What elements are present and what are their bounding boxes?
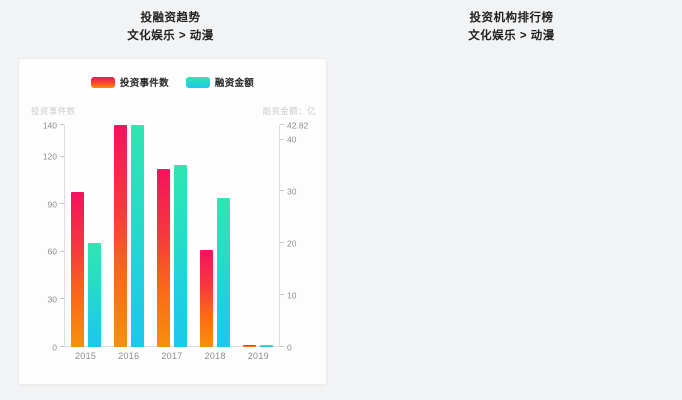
y-axis-caption-right: 融资金额：亿 <box>263 105 316 117</box>
bar-amount[interactable] <box>88 243 101 347</box>
left-panel-title: 投融资趋势 <box>0 10 341 27</box>
bar-group <box>157 125 187 347</box>
bar-amount[interactable] <box>217 198 230 347</box>
bar-group <box>71 125 101 347</box>
axis-tick <box>280 294 284 295</box>
axis-tick-label: 30 <box>287 187 296 196</box>
bar-group <box>200 125 230 347</box>
axis-tick-label: 120 <box>43 152 57 161</box>
x-axis-label: 2017 <box>161 351 182 361</box>
x-axis-label: 2016 <box>118 351 139 361</box>
bar-events[interactable] <box>71 192 84 347</box>
x-axis-label: 2018 <box>205 351 226 361</box>
bar-events[interactable] <box>157 169 170 347</box>
bar-group <box>114 125 144 347</box>
legend-label-events: 投资事件数 <box>120 75 169 89</box>
x-axis-label: 2015 <box>75 351 96 361</box>
axis-tick <box>280 346 284 347</box>
x-axis-label: 2019 <box>248 351 269 361</box>
investment-trend-panel: 投融资趋势 文化娱乐 > 动漫 投资事件数 融资金额 投资事件数 融资金额：亿 <box>0 0 341 400</box>
bar-events[interactable] <box>114 125 127 347</box>
left-panel-breadcrumb: 文化娱乐 > 动漫 <box>0 27 341 45</box>
axis-tick-label: 20 <box>287 239 296 248</box>
axis-tick-label: 90 <box>48 200 57 209</box>
axis-tick <box>280 190 284 191</box>
bar-amount[interactable] <box>260 345 273 347</box>
right-panel-titles: 投资机构排行榜 文化娱乐 > 动漫 <box>341 0 682 45</box>
axis-tick-label: 60 <box>48 248 57 257</box>
axis-tick <box>280 139 284 140</box>
axis-tick-label: 10 <box>287 291 296 300</box>
axis-tick-label: 42.82 <box>287 121 308 130</box>
axis-tick-label: 40 <box>287 135 296 144</box>
bar-events[interactable] <box>243 345 256 347</box>
bar-amount[interactable] <box>174 165 187 347</box>
legend-swatch-events <box>91 77 115 88</box>
right-panel-title: 投资机构排行榜 <box>341 10 682 27</box>
legend-item-amount[interactable]: 融资金额 <box>186 75 254 89</box>
axis-tick <box>280 242 284 243</box>
chart-card: 投资事件数 融资金额 投资事件数 融资金额：亿 0306090120140 01… <box>18 58 327 385</box>
chart-legend: 投资事件数 融资金额 <box>19 75 326 89</box>
left-panel-titles: 投融资趋势 文化娱乐 > 动漫 <box>0 0 341 45</box>
bar-amount[interactable] <box>131 125 144 347</box>
bar-events[interactable] <box>200 250 213 347</box>
axis-tick-label: 140 <box>43 121 57 130</box>
legend-swatch-amount <box>186 77 210 88</box>
dashboard: 投融资趋势 文化娱乐 > 动漫 投资事件数 融资金额 投资事件数 融资金额：亿 <box>0 0 682 400</box>
legend-item-events[interactable]: 投资事件数 <box>91 75 169 89</box>
right-panel-breadcrumb: 文化娱乐 > 动漫 <box>341 27 682 45</box>
axis-tick-label: 0 <box>287 343 292 352</box>
y-axis-caption-left: 投资事件数 <box>31 105 76 117</box>
x-axis-labels: 20152016201720182019 <box>64 351 280 361</box>
bar-groups <box>64 125 280 347</box>
axis-tick <box>280 124 284 125</box>
axis-tick-label: 0 <box>52 343 57 352</box>
investor-ranking-panel: 投资机构排行榜 文化娱乐 > 动漫 1哔哩哔哩bilibili28 笔2腾讯27… <box>341 0 682 400</box>
legend-label-amount: 融资金额 <box>215 75 254 89</box>
bar-chart-plot: 0306090120140 01020304042.82 <box>64 125 280 347</box>
bar-group <box>243 125 273 347</box>
axis-tick-label: 30 <box>48 295 57 304</box>
